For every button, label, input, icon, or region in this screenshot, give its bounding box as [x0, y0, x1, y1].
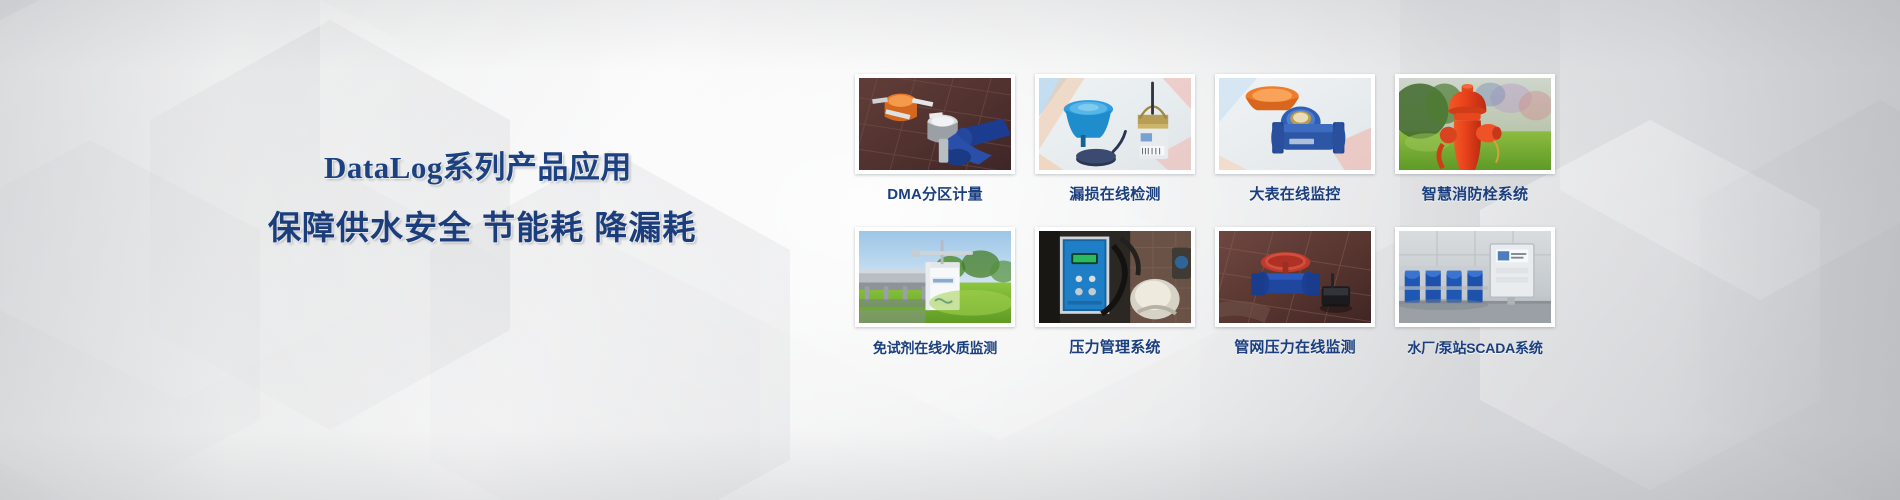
- product-card[interactable]: 智慧消防栓系统: [1395, 74, 1555, 219]
- product-card[interactable]: 大表在线监控: [1215, 74, 1375, 219]
- dma-zone-metering-photo: [859, 78, 1011, 170]
- product-card[interactable]: 压力管理系统: [1035, 227, 1195, 372]
- large-meter-online-monitoring-photo: [1219, 78, 1371, 170]
- product-card[interactable]: DMA分区计量: [855, 74, 1015, 219]
- product-caption: 管网压力在线监测: [1215, 338, 1375, 358]
- product-caption: 大表在线监控: [1215, 185, 1375, 205]
- smart-fire-hydrant-system-photo: [1399, 78, 1551, 170]
- product-thumbnail[interactable]: [1035, 227, 1195, 327]
- product-thumbnail[interactable]: [1215, 74, 1375, 174]
- waterworks-pumping-station-scada-photo: [1399, 231, 1551, 323]
- reagent-free-water-quality-monitoring-photo: [859, 231, 1011, 323]
- product-card[interactable]: 管网压力在线监测: [1215, 227, 1375, 372]
- product-application-banner: DataLog系列产品应用 保障供水安全 节能耗 降漏耗: [0, 0, 1900, 500]
- product-thumbnail[interactable]: [1215, 227, 1375, 327]
- leakage-online-detection-photo: [1039, 78, 1191, 170]
- product-card[interactable]: 免试剂在线水质监测: [855, 227, 1015, 372]
- product-thumbnail[interactable]: [855, 74, 1015, 174]
- product-caption: 水厂/泵站SCADA系统: [1395, 338, 1555, 358]
- product-thumbnail[interactable]: [1395, 227, 1555, 327]
- product-caption: 漏损在线检测: [1035, 185, 1195, 205]
- product-card[interactable]: 漏损在线检测: [1035, 74, 1195, 219]
- product-card-grid: DMA分区计量: [855, 74, 1555, 372]
- headline-line-2: 保障供水安全 节能耗 降漏耗: [268, 206, 688, 250]
- headline: DataLog系列产品应用 保障供水安全 节能耗 降漏耗: [268, 148, 688, 250]
- pressure-management-system-photo: [1039, 231, 1191, 323]
- product-caption: 免试剂在线水质监测: [855, 338, 1015, 358]
- headline-line-1: DataLog系列产品应用: [268, 148, 688, 188]
- product-caption: 压力管理系统: [1035, 338, 1195, 358]
- product-thumbnail[interactable]: [1035, 74, 1195, 174]
- product-caption: DMA分区计量: [855, 185, 1015, 205]
- product-thumbnail[interactable]: [1395, 74, 1555, 174]
- product-thumbnail[interactable]: [855, 227, 1015, 327]
- pipe-network-pressure-monitoring-photo: [1219, 231, 1371, 323]
- product-caption: 智慧消防栓系统: [1395, 185, 1555, 205]
- product-card[interactable]: 水厂/泵站SCADA系统: [1395, 227, 1555, 372]
